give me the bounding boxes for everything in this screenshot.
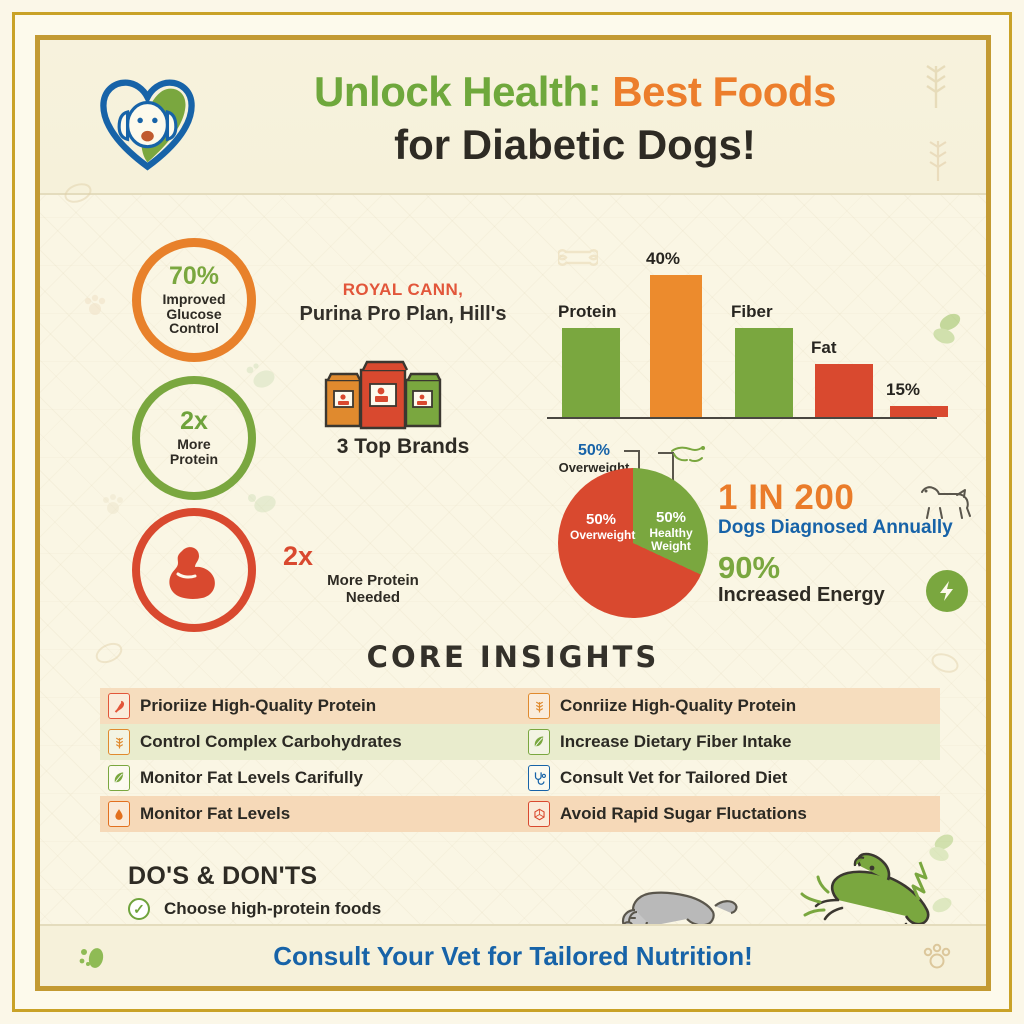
poster-outer-frame: Unlock Health: Best Foods for Diabetic D…: [12, 12, 1012, 1012]
stat-circle-muscle: [132, 508, 256, 632]
brand-secondary-label: Purina Pro Plan, Hill's: [268, 303, 538, 326]
core-insight-label: Control Complex Carbohydrates: [140, 732, 402, 752]
core-insight-item[interactable]: Control Complex Carbohydrates: [100, 724, 520, 760]
leaf-decoration-icon: [244, 362, 278, 392]
stat-value: 70%: [169, 264, 219, 289]
core-insight-item[interactable]: Monitor Fat Levels Carifully: [100, 760, 520, 796]
core-insight-label: Monitor Fat Levels: [140, 804, 290, 824]
paw-icon: [922, 942, 952, 972]
title-green-part: Unlock Health:: [314, 68, 601, 115]
lightning-bolt-icon: [935, 579, 959, 603]
stat-value: 2x: [283, 543, 463, 570]
core-insights-heading: CORE INSIGHTS: [40, 640, 986, 674]
bar-2: [735, 328, 793, 417]
stat-label: Increased Energy: [718, 584, 885, 607]
brands-text: ROYAL CANN, Purina Pro Plan, Hill's: [268, 280, 538, 326]
core-insight-label: Increase Dietary Fiber Intake: [560, 732, 792, 752]
title-orange-part: Best Foods: [612, 68, 836, 115]
nutrient-bar-chart: Protein40%FiberFat15%: [535, 245, 955, 435]
bar-1: [650, 275, 702, 417]
bar-label-4: 15%: [886, 380, 920, 400]
footer-banner: Consult Your Vet for Tailored Nutrition!: [40, 924, 986, 986]
leaf-icon: [108, 765, 130, 791]
core-insight-label: Consult Vet for Tailored Diet: [560, 768, 787, 788]
bar-chart-axis: [547, 417, 937, 419]
stat-caption: MoreProtein: [170, 437, 218, 467]
bar-label-1: 40%: [646, 249, 680, 269]
dog-outline-icon: [916, 480, 974, 522]
brand-primary-label: ROYAL CANN,: [268, 280, 538, 300]
bar-label-0: Protein: [558, 302, 617, 322]
stat-protein-needed: 2x More Protein Needed: [283, 543, 463, 606]
paw-decoration-icon: [100, 492, 126, 518]
stat-caption: ImprovedGlucoseControl: [162, 292, 225, 336]
core-insight-label: Monitor Fat Levels Carifully: [140, 768, 363, 788]
callout-leader-line: [624, 450, 640, 452]
bar-label-3: Fat: [811, 338, 837, 358]
page-title: Unlock Health: Best Foods for Diabetic D…: [225, 66, 925, 171]
core-insight-item[interactable]: Conriize High-Quality Protein: [520, 688, 940, 724]
pie-label-overweight: 50%Overweight: [570, 512, 632, 542]
bar-label-2: Fiber: [731, 302, 773, 322]
core-insight-item[interactable]: Prioriize High-Quality Protein: [100, 688, 520, 724]
weight-pie-chart: 50%HealthyWeight 50%Overweight: [558, 468, 708, 618]
wheat-icon: [108, 729, 130, 755]
dog-food-bags-icon: [318, 358, 448, 430]
stat-energy: 90% Increased Energy: [718, 552, 885, 607]
dos-item-label: Choose high-protein foods: [164, 899, 381, 919]
core-insights-list: Prioriize High-Quality ProteinConriize H…: [100, 688, 940, 832]
core-insight-label: Conriize High-Quality Protein: [560, 696, 796, 716]
bar-0: [562, 328, 620, 417]
caption-line-1: More Protein: [327, 572, 419, 589]
core-insight-row: Prioriize High-Quality ProteinConriize H…: [100, 688, 940, 724]
title-second-line: for Diabetic Dogs!: [225, 119, 925, 172]
bar-chart-bars: Protein40%FiberFat15%: [550, 257, 945, 417]
stat-circle-protein: 2x MoreProtein: [132, 376, 256, 500]
core-insight-row: Monitor Fat LevelsAvoid Rapid Sugar Fluc…: [100, 796, 940, 832]
sugar-cube-icon: [528, 801, 550, 827]
meat-drumstick-icon: [108, 693, 130, 719]
bar-4: [890, 406, 948, 417]
core-insight-item[interactable]: Increase Dietary Fiber Intake: [520, 724, 940, 760]
core-insight-label: Prioriize High-Quality Protein: [140, 696, 376, 716]
dog-sketch-icon: [668, 442, 710, 468]
dos-item: ✓ Choose high-protein foods: [128, 898, 408, 920]
core-insight-item[interactable]: Consult Vet for Tailored Diet: [520, 760, 940, 796]
paw-decoration-icon: [82, 293, 108, 319]
poster-inner-frame: Unlock Health: Best Foods for Diabetic D…: [35, 35, 991, 991]
stat-value: 90%: [718, 552, 885, 583]
muscle-arm-icon: [164, 541, 224, 599]
energy-badge: [926, 570, 968, 612]
stat-value: 2x: [180, 409, 208, 434]
caption-line-2: Needed: [346, 589, 400, 606]
leaf-decoration-icon: [245, 488, 279, 516]
stat-circle-glucose: 70% ImprovedGlucoseControl: [132, 238, 256, 362]
brand-count-label: 3 Top Brands: [268, 435, 538, 459]
core-insight-row: Monitor Fat Levels CarifullyConsult Vet …: [100, 760, 940, 796]
core-insight-item[interactable]: Monitor Fat Levels: [100, 796, 520, 832]
footer-cta-text: Consult Your Vet for Tailored Nutrition!: [273, 941, 753, 972]
header-banner: Unlock Health: Best Foods for Diabetic D…: [40, 40, 986, 195]
pie-label-healthy: 50%HealthyWeight: [640, 510, 702, 553]
bar-3: [815, 364, 873, 417]
core-insight-row: Control Complex CarbohydratesIncrease Di…: [100, 724, 940, 760]
core-insight-label: Avoid Rapid Sugar Fluctations: [560, 804, 807, 824]
sprout-icon: [76, 944, 106, 972]
stethoscope-icon: [528, 765, 550, 791]
leaf-icon: [528, 729, 550, 755]
core-insight-item[interactable]: Avoid Rapid Sugar Fluctations: [520, 796, 940, 832]
wheat-icon: [528, 693, 550, 719]
check-icon: ✓: [128, 898, 150, 920]
dog-heart-logo-icon: [95, 70, 200, 175]
stat-caption: More Protein Needed: [283, 573, 463, 606]
oil-drop-icon: [108, 801, 130, 827]
dos-donts-heading: DO'S & DON'TS: [128, 862, 408, 891]
